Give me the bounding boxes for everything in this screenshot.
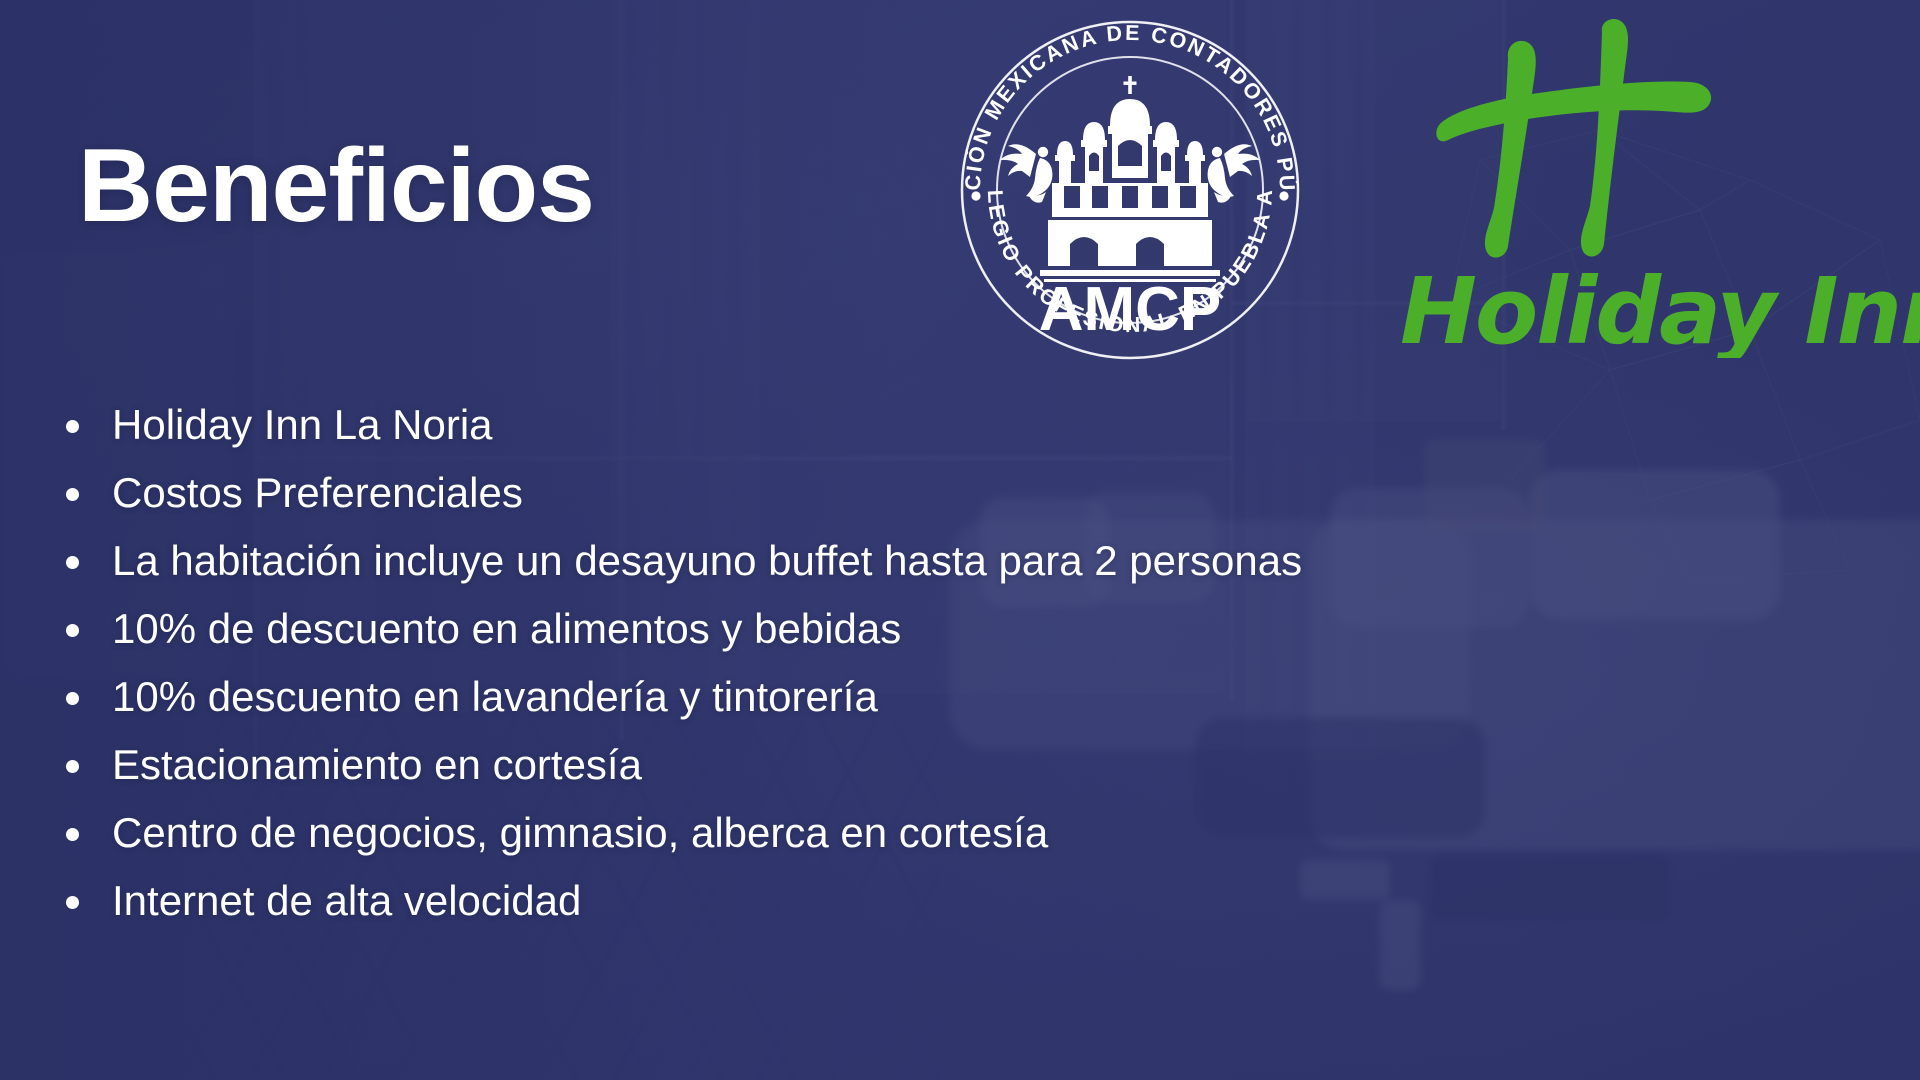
list-item-label: Costos Preferenciales bbox=[112, 469, 523, 516]
list-item: 10% descuento en lavandería y tintorería bbox=[56, 668, 1476, 726]
seal-separator-dot bbox=[971, 191, 980, 200]
holiday-inn-logo: Holiday Inn bbox=[1390, 18, 1920, 358]
list-item: Centro de negocios, gimnasio, alberca en… bbox=[56, 804, 1476, 862]
list-item-label: Estacionamiento en cortesía bbox=[112, 741, 642, 788]
amcp-seal-graphic: ASOCIACIÓN MEXICANA DE CONTADORES PÚBLIC… bbox=[940, 0, 1320, 380]
list-item-label: La habitación incluye un desayuno buffet… bbox=[112, 537, 1302, 584]
angel-right bbox=[1208, 144, 1260, 202]
seal-acronym: AMCP bbox=[1039, 275, 1222, 344]
angel-left bbox=[1000, 144, 1052, 202]
seal-separator-dot bbox=[1279, 191, 1288, 200]
list-item: Estacionamiento en cortesía bbox=[56, 736, 1476, 794]
list-item: La habitación incluye un desayuno buffet… bbox=[56, 532, 1476, 590]
list-item-label: Holiday Inn La Noria bbox=[112, 401, 493, 448]
holiday-inn-wordmark: Holiday Inn bbox=[1400, 258, 1920, 358]
list-item-label: 10% de descuento en alimentos y bebidas bbox=[112, 605, 901, 652]
cathedral-emblem bbox=[1000, 76, 1260, 282]
page-title: Beneficios bbox=[78, 132, 594, 241]
holiday-inn-h-monogram-icon bbox=[1390, 18, 1790, 268]
list-item-label: Centro de negocios, gimnasio, alberca en… bbox=[112, 809, 1048, 856]
list-item: Holiday Inn La Noria bbox=[56, 396, 1476, 454]
list-item: 10% de descuento en alimentos y bebidas bbox=[56, 600, 1476, 658]
benefits-list: Holiday Inn La Noria Costos Preferencial… bbox=[56, 396, 1476, 940]
presentation-slide: Beneficios Holiday Inn La Noria Costos P… bbox=[0, 0, 1920, 1080]
slide-content: Beneficios Holiday Inn La Noria Costos P… bbox=[0, 0, 1920, 1080]
list-item-label: Internet de alta velocidad bbox=[112, 877, 581, 924]
amcp-logo: ASOCIACIÓN MEXICANA DE CONTADORES PÚBLIC… bbox=[940, 0, 1320, 380]
list-item-label: 10% descuento en lavandería y tintorería bbox=[112, 673, 878, 720]
list-item: Costos Preferenciales bbox=[56, 464, 1476, 522]
list-item: Internet de alta velocidad bbox=[56, 872, 1476, 930]
